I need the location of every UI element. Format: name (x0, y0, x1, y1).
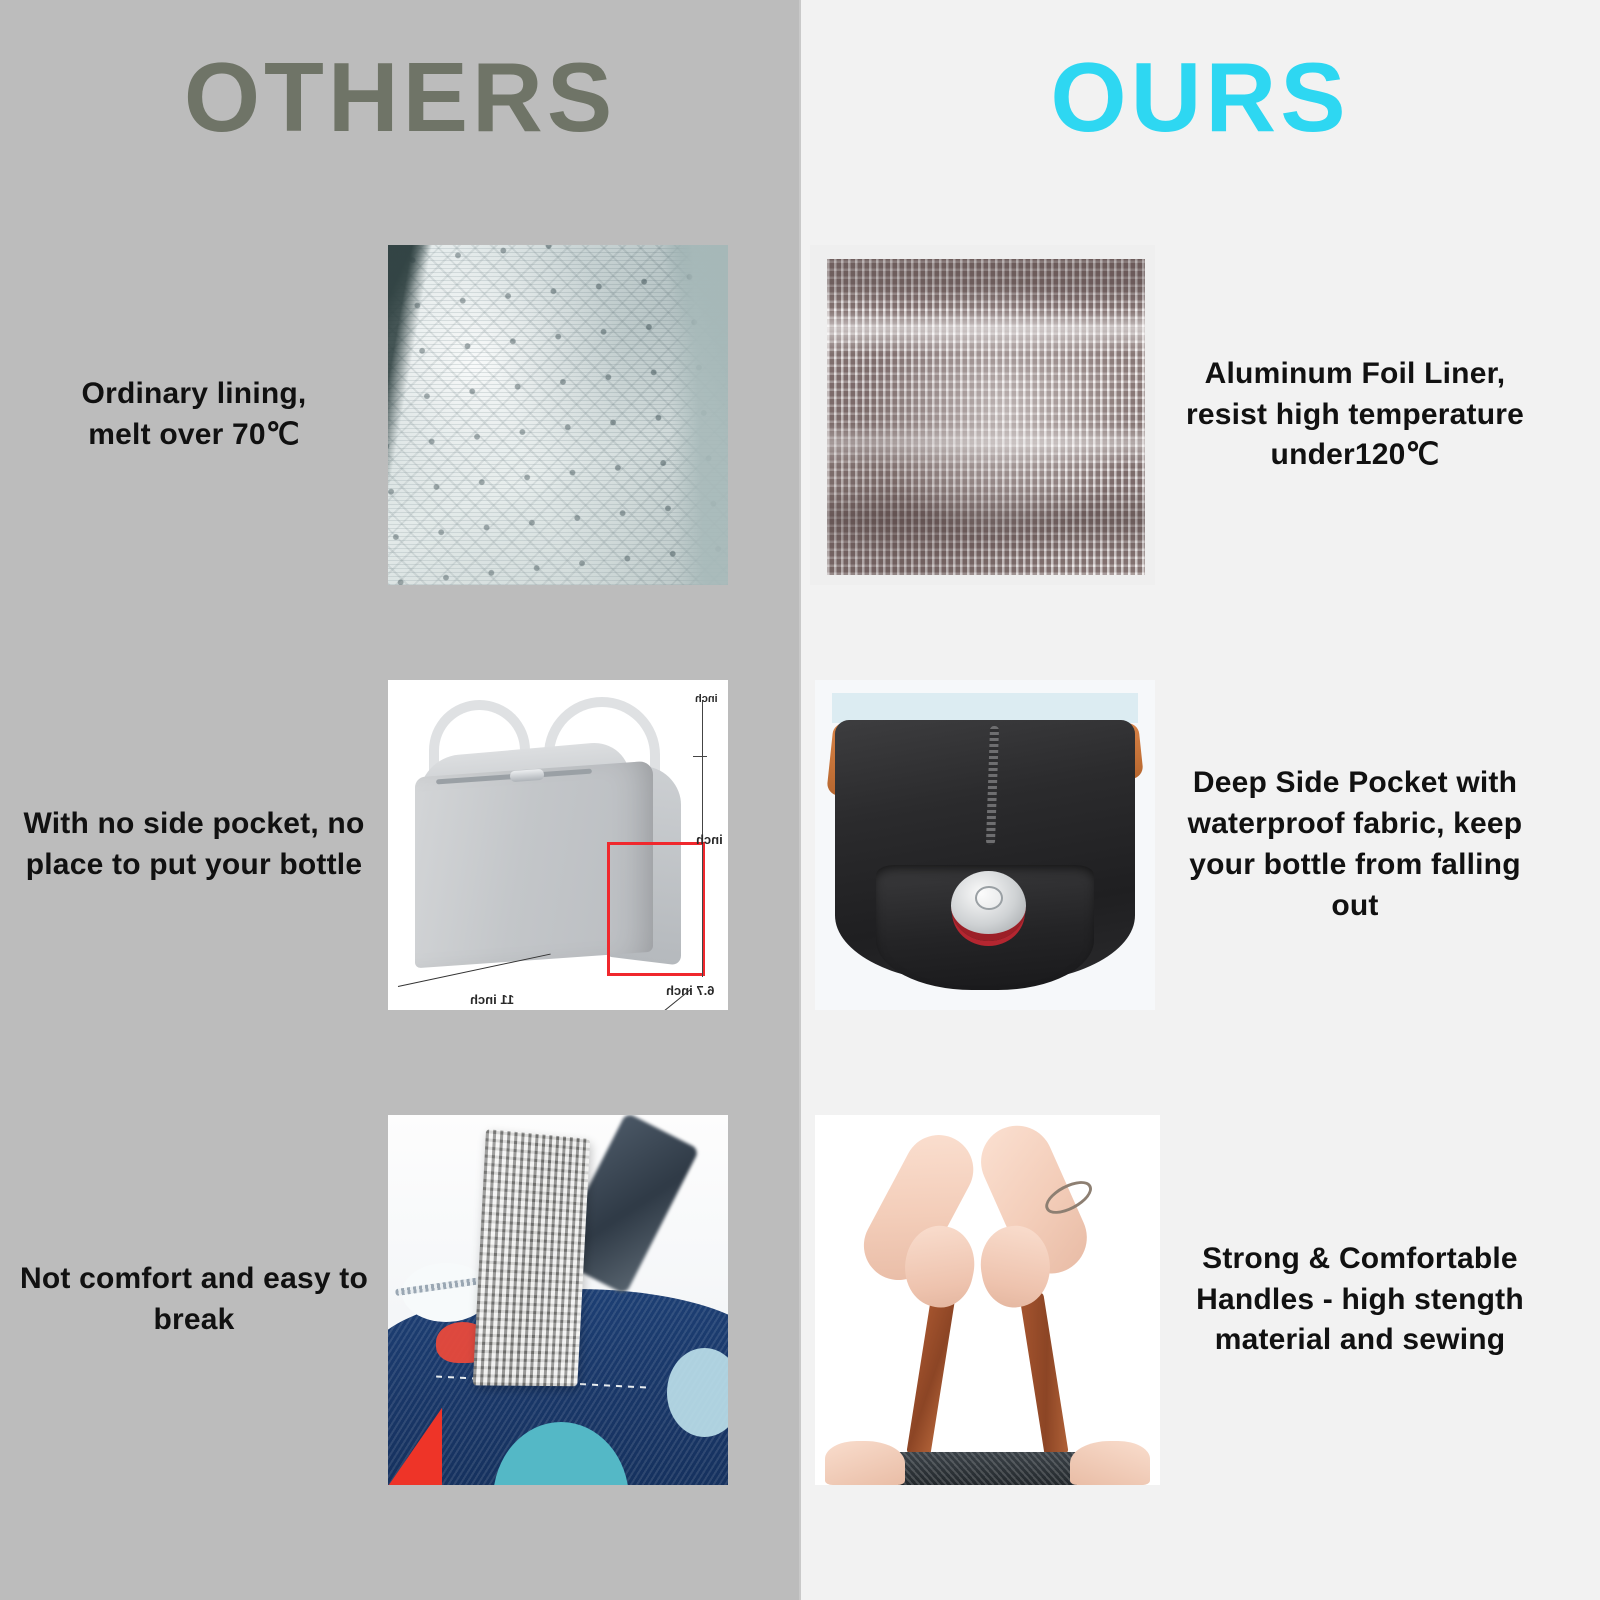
ours-heading: OURS (800, 46, 1600, 149)
ours-row-2: Deep Side Pocket with waterproof fabric,… (800, 680, 1600, 1010)
others-row-2: With no side pocket, no place to put you… (0, 680, 800, 1010)
dimension-label-height-top: inch (695, 693, 718, 705)
others-caption-2: With no side pocket, no place to put you… (0, 804, 388, 886)
ours-caption-2: Deep Side Pocket with waterproof fabric,… (1155, 763, 1555, 926)
others-image-3-weak-strap (388, 1115, 728, 1485)
ours-panel: OURS Aluminum Foil Liner, resist high te… (800, 0, 1600, 1600)
others-caption-1: Ordinary lining, melt over 70℃ (0, 374, 388, 456)
dimension-label-depth: 6.7 inch (666, 983, 714, 998)
foil-texture (827, 259, 1144, 575)
ours-image-2-deep-side-pocket (815, 680, 1155, 1010)
ours-image-3-strong-handles (815, 1115, 1160, 1485)
brown-handle-right (1020, 1292, 1069, 1457)
gray-woven-strap (472, 1129, 590, 1386)
others-caption-1-line2: melt over 70℃ (88, 418, 299, 451)
hand-holding-base-left (825, 1441, 904, 1485)
dimension-label-width: 11 inch (470, 992, 514, 1007)
missing-pocket-highlight-box (607, 842, 705, 977)
others-image-2-gray-bag: 11 inch 6.7 inch inch inch (388, 680, 728, 1010)
brown-handle-left (906, 1292, 955, 1457)
ours-row-3: Strong & Comfortable Handles - high sten… (800, 1115, 1600, 1485)
ours-caption-1: Aluminum Foil Liner, resist high tempera… (1155, 354, 1555, 476)
others-panel: OTHERS Ordinary lining, melt over 70℃ Wi… (0, 0, 800, 1600)
others-image-1-ordinary-lining (388, 245, 728, 585)
can-tab-icon (975, 886, 1003, 910)
ours-caption-3: Strong & Comfortable Handles - high sten… (1160, 1239, 1560, 1361)
others-caption-3: Not comfort and easy to break (0, 1259, 388, 1341)
others-row-1: Ordinary lining, melt over 70℃ (0, 245, 800, 585)
ours-row-1: Aluminum Foil Liner, resist high tempera… (800, 245, 1600, 585)
bag-zipper-pull (510, 769, 545, 782)
dimension-label-height: inch (696, 832, 723, 847)
hand-holding-base-right (1070, 1441, 1149, 1485)
panel-divider (799, 0, 801, 1600)
photo-background-strip (832, 693, 1138, 723)
comparison-infographic: OTHERS Ordinary lining, melt over 70℃ Wi… (0, 0, 1600, 1600)
dimension-tick (693, 756, 707, 757)
bag-base-fabric (898, 1452, 1077, 1485)
others-row-3: Not comfort and easy to break (0, 1115, 800, 1485)
others-heading: OTHERS (0, 46, 800, 149)
ours-image-1-aluminum-foil (810, 245, 1155, 585)
others-caption-1-line1: Ordinary lining, (82, 377, 307, 410)
